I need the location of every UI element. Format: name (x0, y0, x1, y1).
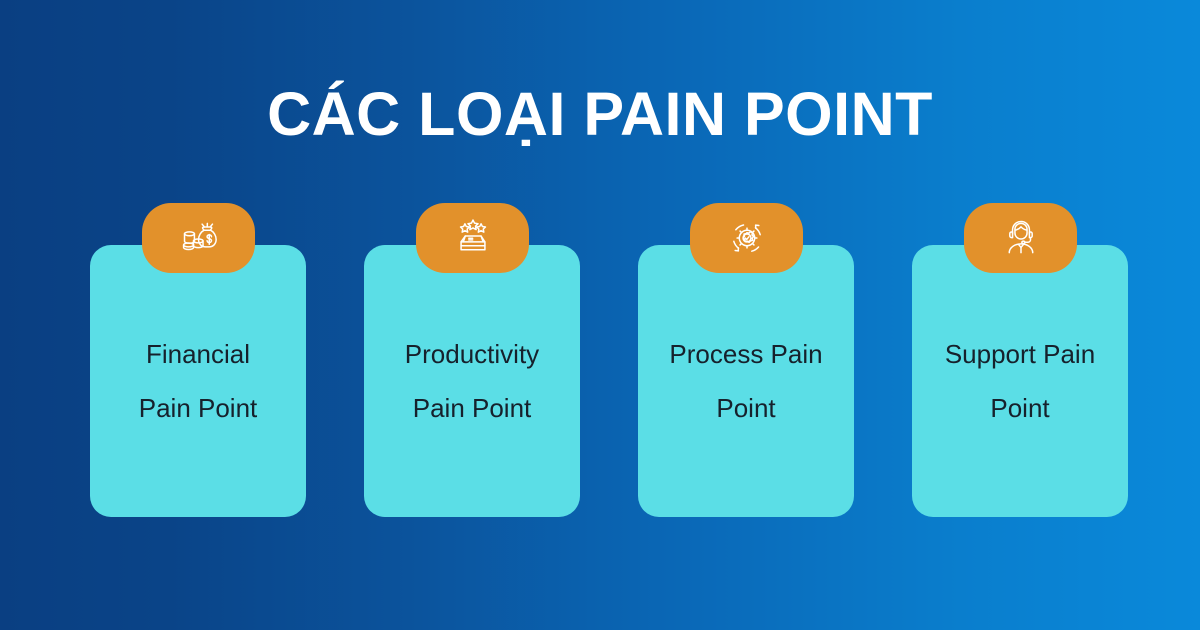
card-label-line2: Pain Point (98, 381, 298, 435)
page-title: CÁC LOẠI PAIN POINT (0, 79, 1200, 149)
card-support[interactable]: Support Pain Point (912, 203, 1128, 517)
card-label-line2: Point (646, 381, 846, 435)
gear-check-cycle-icon (690, 203, 803, 273)
open-box-stars-icon (416, 203, 529, 273)
card-label-line1: Financial (98, 327, 298, 381)
card-process[interactable]: Process Pain Point (638, 203, 854, 517)
card-label-line2: Point (920, 381, 1120, 435)
card-label-line1: Productivity (372, 327, 572, 381)
pain-point-cards-row: Financial Pain Point (90, 203, 1128, 517)
card-financial[interactable]: Financial Pain Point (90, 203, 306, 517)
card-label: Process Pain Point (646, 327, 846, 435)
poster-canvas: CÁC LOẠI PAIN POINT (0, 0, 1200, 630)
card-label: Support Pain Point (920, 327, 1120, 435)
card-label: Productivity Pain Point (372, 327, 572, 435)
headset-agent-icon (964, 203, 1077, 273)
card-label-line1: Support Pain (920, 327, 1120, 381)
card-label: Financial Pain Point (98, 327, 298, 435)
card-label-line2: Pain Point (372, 381, 572, 435)
money-bag-coins-icon (142, 203, 255, 273)
card-productivity[interactable]: Productivity Pain Point (364, 203, 580, 517)
card-label-line1: Process Pain (646, 327, 846, 381)
